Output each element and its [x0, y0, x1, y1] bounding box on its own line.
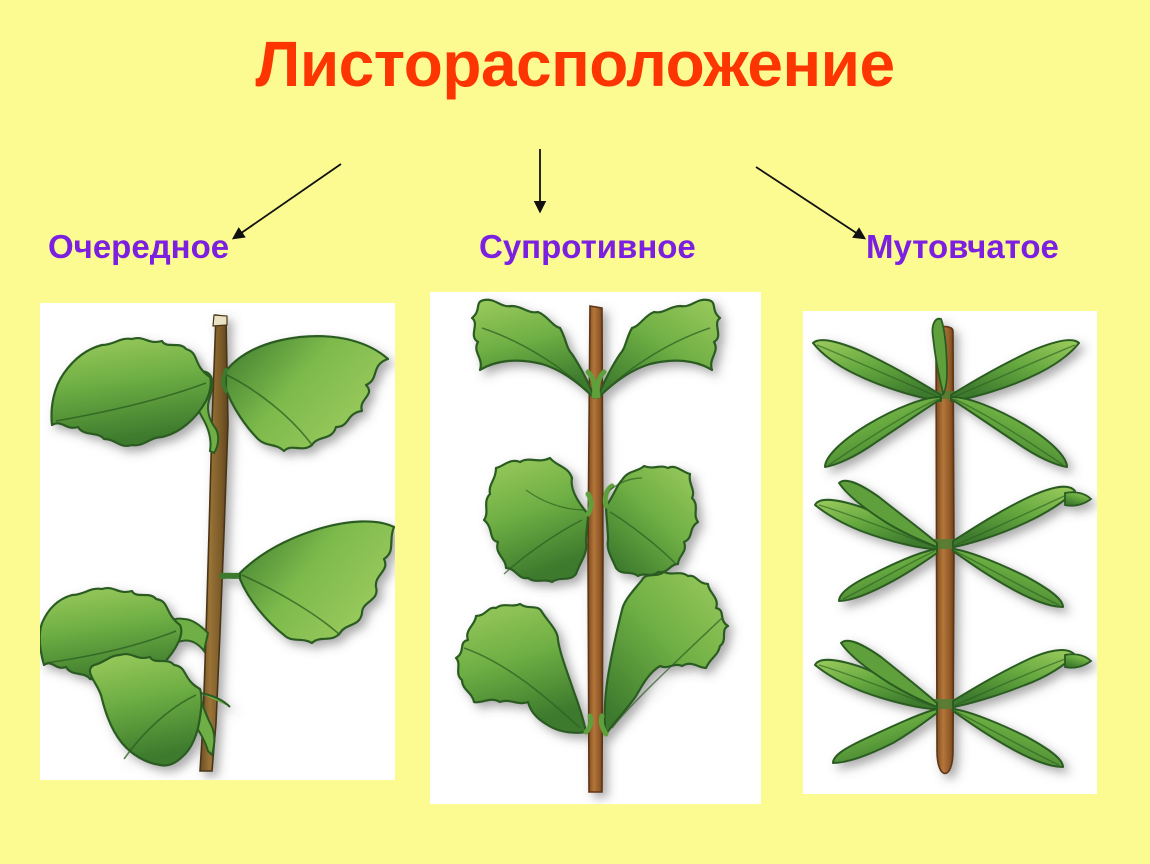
page-title: Листорасположение [0, 32, 1150, 96]
label-alternate-arrangement: Очередное [48, 230, 229, 263]
alternate-plant-drawing [40, 303, 395, 780]
opposite-plant-drawing [430, 292, 761, 804]
label-opposite-arrangement: Супротивное [479, 230, 696, 263]
illustration-alternate-arrangement [40, 303, 395, 780]
arrow-to-alternate-icon [234, 164, 341, 238]
arrow-to-whorled-icon [756, 167, 864, 238]
illustration-opposite-arrangement [430, 292, 761, 804]
illustration-whorled-arrangement [803, 311, 1097, 794]
slide-canvas: Листорасположение Очередное Супротивное … [0, 0, 1150, 864]
label-whorled-arrangement: Мутовчатое [866, 230, 1059, 263]
whorled-plant-drawing [803, 311, 1097, 794]
leaf [223, 336, 388, 451]
leaf [52, 338, 219, 453]
leaf [222, 521, 394, 643]
